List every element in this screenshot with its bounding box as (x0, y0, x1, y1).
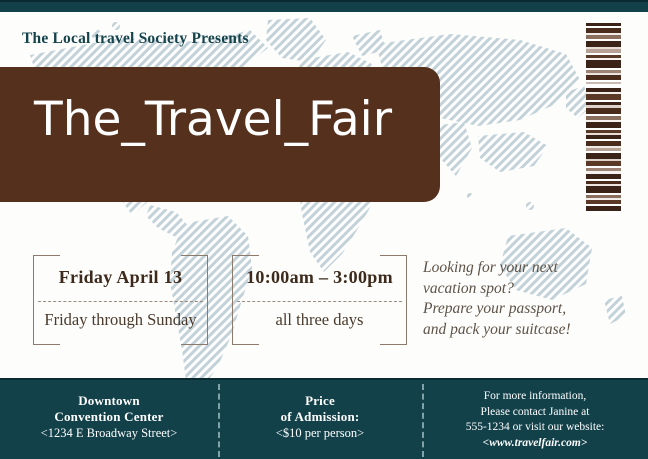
presenter-line: The Local travel Society Presents (22, 30, 249, 48)
travel-fair-poster: The Local travel Society Presents The_Tr… (0, 0, 648, 459)
date-panel: Friday April 13 Friday through Sunday (33, 255, 208, 345)
time-panel: 10:00am – 3:00pm all three days (232, 255, 407, 345)
date-divider (38, 301, 203, 302)
venue-address: <1234 E Broadway Street> (0, 425, 218, 441)
date-secondary: Friday through Sunday (34, 310, 207, 330)
contact-website: <www.travelfair.com> (422, 436, 648, 452)
promo-line-2: vacation spot? (423, 279, 638, 300)
barcode-bar (586, 60, 621, 67)
date-primary: Friday April 13 (34, 267, 207, 288)
bracket-cap-top-left (34, 255, 60, 256)
bracket-cap-bottom-right (380, 344, 406, 345)
footer-bar: Downtown Convention Center <1234 E Broad… (0, 378, 648, 459)
bracket-cap-bottom-left (34, 344, 60, 345)
event-title: The_Travel_Fair (34, 96, 392, 143)
promo-line-4: and pack your suitcase! (423, 320, 638, 341)
time-primary: 10:00am – 3:00pm (233, 267, 406, 288)
price-line-1: Price (218, 393, 422, 409)
footer-price: Price of Admission: <$10 per person> (218, 393, 422, 441)
venue-line-2: Convention Center (0, 409, 218, 425)
contact-line-1: For more information, (422, 389, 648, 405)
time-secondary: all three days (233, 310, 406, 330)
promo-line-1: Looking for your next (423, 258, 638, 279)
bracket-cap-top-right (380, 255, 406, 256)
bracket-cap-bottom-right (181, 344, 207, 345)
bracket-cap-bottom-left (233, 344, 259, 345)
bracket-cap-top-right (181, 255, 207, 256)
footer-venue: Downtown Convention Center <1234 E Broad… (0, 393, 218, 441)
time-divider (237, 301, 402, 302)
price-line-2: of Admission: (218, 409, 422, 425)
bracket-cap-top-left (233, 255, 259, 256)
barcode-bar (586, 211, 621, 214)
contact-line-2: Please contact Janine at (422, 405, 648, 421)
promo-text: Looking for your next vacation spot? Pre… (423, 258, 638, 340)
footer-contact: For more information, Please contact Jan… (422, 389, 648, 451)
barcode (586, 23, 621, 215)
contact-line-3: 555-1234 or visit our website: (422, 420, 648, 436)
venue-line-1: Downtown (0, 393, 218, 409)
top-accent-bar (0, 0, 648, 12)
promo-line-3: Prepare your passport, (423, 299, 638, 320)
price-amount: <$10 per person> (218, 425, 422, 441)
